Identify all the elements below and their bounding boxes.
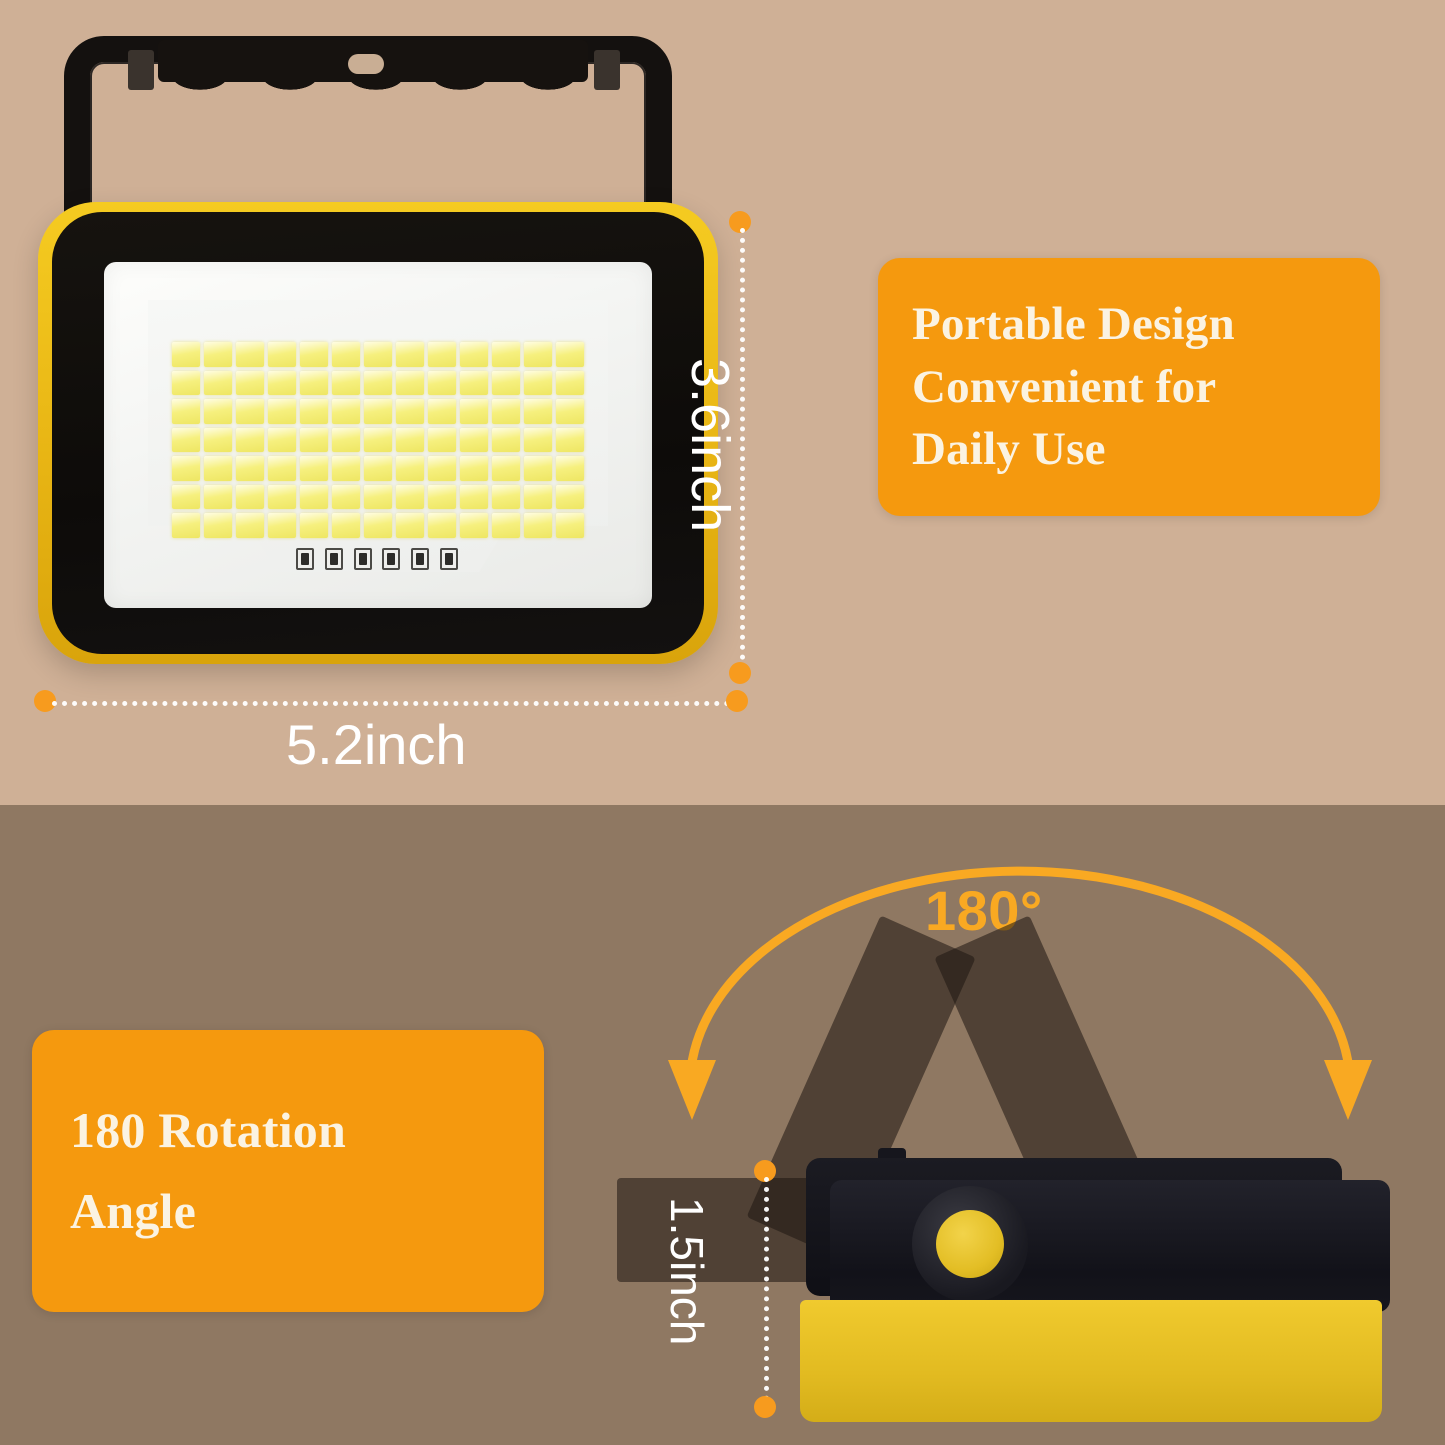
infographic-canvas: 3.6inch 5.2inch Portable Design Convenie… [0,0,1445,1445]
led-chip [300,485,328,510]
led-chip [396,428,424,453]
led-chip [300,399,328,424]
indicator-chip [411,548,429,570]
led-chip [236,485,264,510]
indicator-chip [382,548,400,570]
led-chip [172,485,200,510]
led-chip [172,456,200,481]
led-chip [524,513,552,538]
led-chip [556,513,584,538]
led-chip [556,428,584,453]
led-chip [364,485,392,510]
arrow-head-left-icon [668,1060,716,1120]
led-chip [396,456,424,481]
led-chip [236,399,264,424]
led-chip [172,399,200,424]
led-chip [556,342,584,367]
led-chip [300,428,328,453]
led-chip [204,399,232,424]
led-chip [556,456,584,481]
led-chip [492,428,520,453]
yellow-base-stand [800,1300,1382,1422]
led-indicator-chip-row [296,548,458,570]
led-chip [236,428,264,453]
led-chip [172,428,200,453]
hanging-hole [348,54,384,74]
led-chip [364,456,392,481]
led-chip [460,428,488,453]
led-chip [364,513,392,538]
led-chip [268,428,296,453]
led-chip [236,342,264,367]
led-chip [300,513,328,538]
led-chip [268,456,296,481]
indicator-chip [325,548,343,570]
dim-dot-bottom [729,662,751,684]
led-chip [556,399,584,424]
callout-line-2: Angle [70,1171,506,1252]
led-chip [556,371,584,396]
led-chip [204,428,232,453]
led-chip [332,456,360,481]
led-chip [364,342,392,367]
led-chip [300,342,328,367]
callout-line-3: Daily Use [912,418,1346,481]
height-label: 3.6inch [679,358,741,532]
led-chip [268,399,296,424]
led-chip [300,456,328,481]
dim-dot-bottom [754,1396,776,1418]
led-chip [524,456,552,481]
rotation-knob[interactable] [936,1210,1004,1278]
led-chip [524,485,552,510]
led-chip [428,399,456,424]
led-chip [332,399,360,424]
led-chip [300,371,328,396]
led-chip [396,371,424,396]
width-label: 5.2inch [286,712,467,777]
led-chip [268,342,296,367]
led-chip [492,456,520,481]
led-chip [460,399,488,424]
callout-portable-design: Portable Design Convenient for Daily Use [878,258,1380,516]
led-chip [332,428,360,453]
led-chip [236,456,264,481]
arrow-head-right-icon [1324,1060,1372,1120]
led-chip [364,399,392,424]
dim-dot-right [726,690,748,712]
led-chip [524,428,552,453]
led-chip [460,342,488,367]
led-chip [492,342,520,367]
led-chip [492,399,520,424]
led-chip [428,428,456,453]
led-chip [396,342,424,367]
led-chip [236,371,264,396]
handle-wave-grip [160,76,586,102]
led-chip [524,399,552,424]
led-chip [396,399,424,424]
led-chip [364,371,392,396]
led-chip [460,456,488,481]
callout-rotation-angle: 180 Rotation Angle [32,1030,544,1312]
led-chip [492,513,520,538]
led-chip [460,513,488,538]
led-chip [172,342,200,367]
indicator-chip [440,548,458,570]
handle-hinge-right [594,50,620,90]
led-chip [332,371,360,396]
led-chip [492,371,520,396]
led-chip [460,485,488,510]
dim-line-vertical [764,1177,769,1401]
led-chip [172,513,200,538]
led-chip [204,456,232,481]
led-chip [204,371,232,396]
callout-line-2: Convenient for [912,356,1346,419]
led-chip [204,485,232,510]
led-chip [332,485,360,510]
led-chip [236,513,264,538]
led-chip [428,456,456,481]
led-chip [268,513,296,538]
led-chip [396,513,424,538]
led-chip [428,513,456,538]
led-chip [332,342,360,367]
led-chip [492,485,520,510]
led-chip [204,342,232,367]
depth-label: 1.5inch [660,1197,714,1345]
led-chip [172,371,200,396]
led-chip [332,513,360,538]
led-chip [364,428,392,453]
indicator-chip [296,548,314,570]
led-chip [428,371,456,396]
handle-hinge-left [128,50,154,90]
led-chip [524,371,552,396]
led-chip [268,485,296,510]
led-chip [268,371,296,396]
led-chip [396,485,424,510]
led-chip [460,371,488,396]
callout-line-1: 180 Rotation [70,1090,506,1171]
led-chip [524,342,552,367]
callout-line-1: Portable Design [912,293,1346,356]
led-chip-grid [172,342,584,538]
dim-line-horizontal [52,701,730,706]
led-chip [556,485,584,510]
led-chip [428,485,456,510]
led-chip [428,342,456,367]
indicator-chip [354,548,372,570]
led-chip [204,513,232,538]
